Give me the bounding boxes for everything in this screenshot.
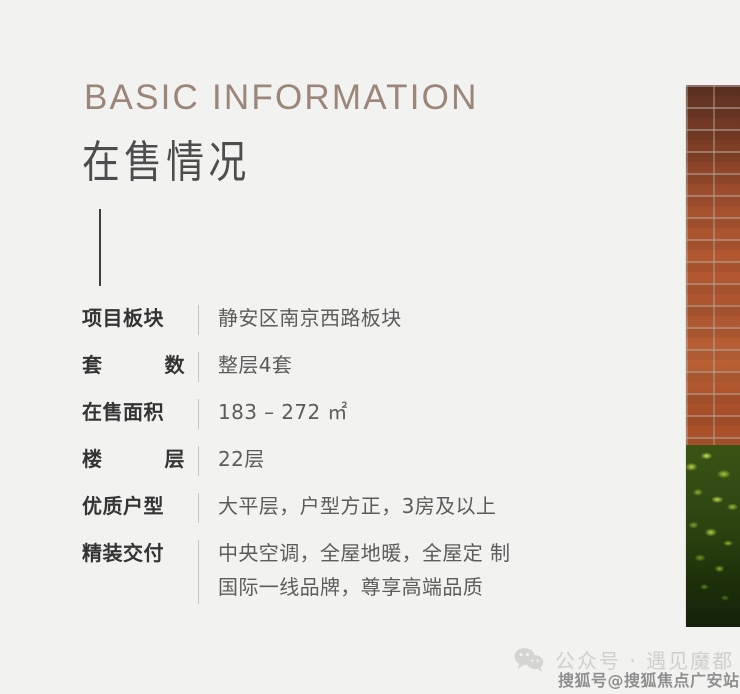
info-value: 静安区南京西路板块: [218, 301, 642, 335]
info-label-char: 数: [165, 348, 186, 382]
section-eyebrow: BASIC INFORMATION: [84, 78, 479, 118]
info-label-char: 层: [165, 442, 186, 476]
info-separator: [198, 493, 199, 523]
vertical-rule-divider: [99, 209, 101, 286]
info-value-line1: 大平层，户型方正，3房及以上: [218, 494, 496, 518]
wechat-icon: [514, 647, 544, 672]
foliage-texture: [686, 445, 740, 627]
info-label: 精装交付: [82, 536, 185, 570]
info-label: 优质户型: [82, 489, 185, 523]
slide-canvas: BASIC INFORMATION 在售情况 项目板块 静安区南京西路板块 套 …: [0, 0, 740, 694]
info-value: 中央空调，全屋地暖，全屋定 制 国际一线品牌，尊享高端品质: [218, 536, 642, 604]
info-row: 在售面积 183 – 272 ㎡: [82, 395, 642, 429]
page-title: 在售情况: [82, 126, 251, 190]
info-row: 套 数 整层4套: [82, 348, 642, 382]
info-row: 项目板块 静安区南京西路板块: [82, 301, 642, 335]
info-separator: [198, 446, 199, 476]
info-value-line2: 国际一线品牌，尊享高端品质: [218, 570, 642, 604]
info-value: 22层: [218, 442, 642, 476]
info-list: 项目板块 静安区南京西路板块 套 数 整层4套 在售面积 183 – 272 ㎡: [82, 301, 642, 617]
info-row: 优质户型 大平层，户型方正，3房及以上: [82, 489, 642, 523]
info-separator: [198, 540, 199, 604]
info-value-line1: 静安区南京西路板块: [218, 306, 402, 330]
info-label: 套 数: [82, 348, 185, 382]
info-label-char: 楼: [82, 442, 103, 476]
info-separator: [198, 352, 199, 382]
info-label: 在售面积: [82, 395, 185, 429]
info-label: 项目板块: [82, 301, 185, 335]
info-value-line1: 22层: [218, 447, 265, 471]
info-value: 整层4套: [218, 348, 642, 382]
info-value: 大平层，户型方正，3房及以上: [218, 489, 642, 523]
info-value-line1: 183 – 272 ㎡: [218, 400, 348, 424]
info-label-char: 套: [82, 348, 103, 382]
info-separator: [198, 305, 199, 335]
brick-wall-texture: [686, 85, 740, 475]
sohu-watermark-label: 搜狐号@搜狐焦点广安站: [558, 667, 740, 691]
info-row: 精装交付 中央空调，全屋地暖，全屋定 制 国际一线品牌，尊享高端品质: [82, 536, 642, 604]
brick-wall-photo: [686, 85, 740, 627]
info-value-line1: 整层4套: [218, 353, 292, 377]
info-value: 183 – 272 ㎡: [218, 395, 642, 429]
info-value-line1: 中央空调，全屋地暖，全屋定 制: [218, 541, 510, 565]
info-label: 楼 层: [82, 442, 185, 476]
info-separator: [198, 399, 199, 429]
info-row: 楼 层 22层: [82, 442, 642, 476]
